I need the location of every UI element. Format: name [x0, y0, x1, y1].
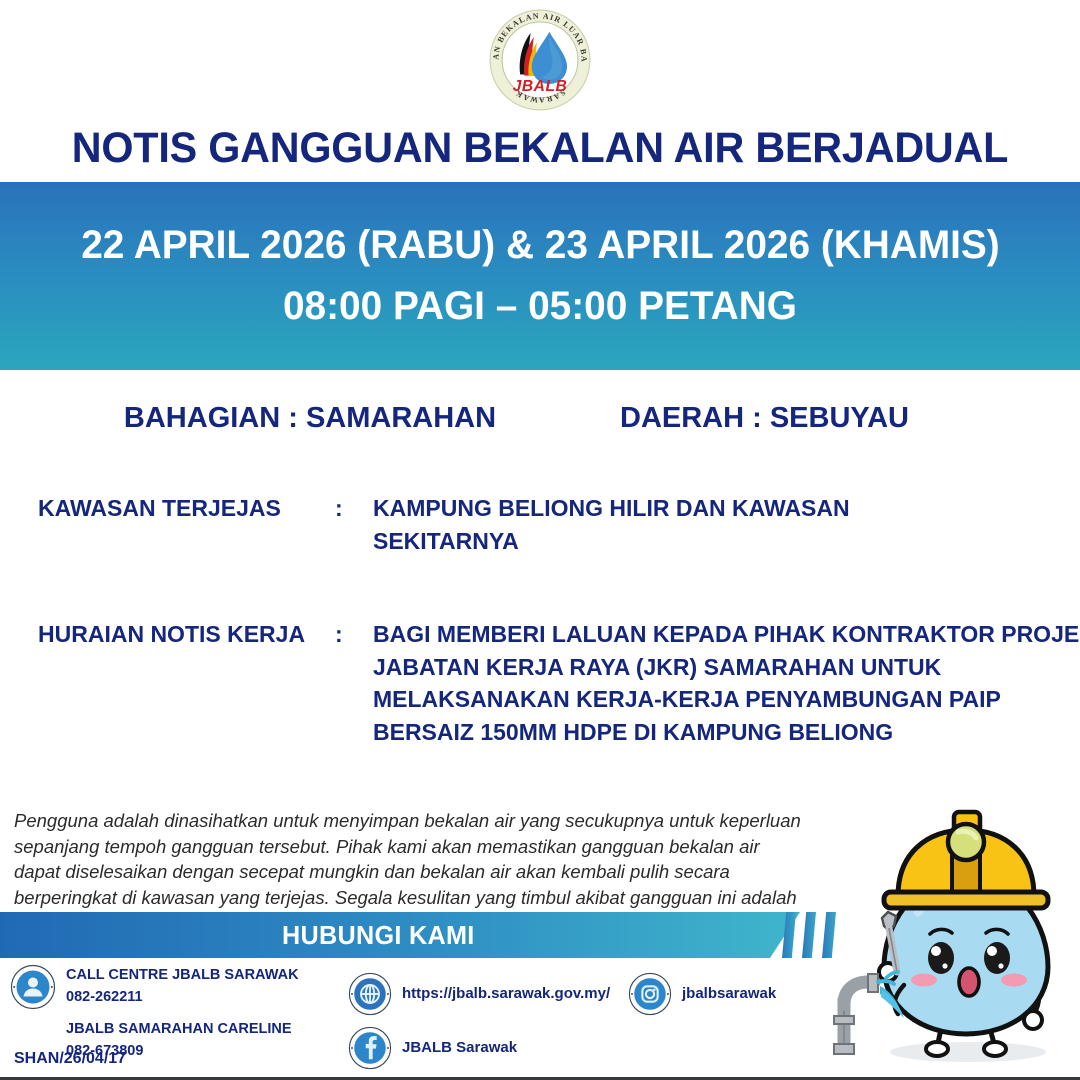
jbalb-logo-icon: JABATAN BEKALAN AIR LUAR BANDAR SARAWAK …	[488, 8, 592, 112]
affected-area-value: KAMPUNG BELIONG HILIR DAN KAWASAN SEKITA…	[373, 492, 1058, 557]
work-description-line: MELAKSANAKAN KERJA-KERJA PENYAMBUNGAN PA…	[373, 683, 1080, 716]
reference-code: SHAN/26/04/17	[14, 1050, 126, 1068]
work-description-value: BAGI MEMBERI LALUAN KEPADA PIHAK KONTRAK…	[373, 618, 1080, 749]
instagram-handle[interactable]: jbalbsarawak	[682, 982, 776, 1005]
daerah-label: DAERAH : SEBUYAU	[620, 402, 1080, 435]
water-disruption-notice-poster: JABATAN BEKALAN AIR LUAR BANDAR SARAWAK …	[0, 0, 1080, 1080]
facebook-handle[interactable]: JBALB Sarawak	[402, 1036, 517, 1059]
contact-banner-shape: HUBUNGI KAMI	[0, 912, 800, 958]
work-description-label: HURAIAN NOTIS KERJA	[38, 618, 335, 749]
disruption-dates: 22 APRIL 2026 (RABU) & 23 APRIL 2026 (KH…	[81, 223, 1000, 268]
disruption-time: 08:00 PAGI – 05:00 PETANG	[283, 284, 797, 329]
affected-area-block: KAWASAN TERJEJAS : KAMPUNG BELIONG HILIR…	[38, 492, 1058, 557]
instagram-block[interactable]: jbalbsarawak	[628, 972, 776, 1016]
work-description-line: BERSAIZ 150MM HDPE DI KAMPUNG BELIONG	[373, 716, 1080, 749]
affected-area-colon: :	[335, 492, 373, 557]
water-droplet-mascot-icon	[826, 800, 1076, 1075]
work-description-block: HURAIAN NOTIS KERJA : BAGI MEMBERI LALUA…	[38, 618, 1058, 749]
globe-icon	[348, 972, 392, 1016]
area-row: BAHAGIAN : SAMARAHAN DAERAH : SEBUYAU	[0, 402, 1080, 435]
instagram-icon	[628, 972, 672, 1016]
work-description-line: JABATAN KERJA RAYA (JKR) SAMARAHAN UNTUK	[373, 651, 1080, 684]
svg-text:JBALB: JBALB	[513, 78, 568, 95]
website-block[interactable]: https://jbalb.sarawak.gov.my/	[348, 972, 610, 1016]
decorative-slash-icon	[802, 912, 816, 958]
contact-heading: HUBUNGI KAMI	[282, 920, 475, 951]
work-description-line: BAGI MEMBERI LALUAN KEPADA PIHAK KONTRAK…	[373, 618, 1080, 651]
affected-area-label: KAWASAN TERJEJAS	[38, 492, 335, 557]
logo-container: JABATAN BEKALAN AIR LUAR BANDAR SARAWAK …	[0, 8, 1080, 112]
leaking-pipe-icon	[834, 972, 904, 1054]
call-centre-text: CALL CENTRE JBALB SARAWAK 082-262211 JBA…	[66, 964, 299, 1063]
call-centre-label: CALL CENTRE JBALB SARAWAK	[66, 964, 299, 986]
person-icon	[10, 964, 56, 1010]
date-banner: 22 APRIL 2026 (RABU) & 23 APRIL 2026 (KH…	[0, 182, 1080, 370]
careline-label: JBALB SAMARAHAN CARELINE	[66, 1018, 299, 1040]
bahagian-label: BAHAGIAN : SAMARAHAN	[0, 402, 620, 435]
facebook-block[interactable]: JBALB Sarawak	[348, 1026, 517, 1070]
work-description-colon: :	[335, 618, 373, 749]
facebook-icon	[348, 1026, 392, 1070]
affected-area-line: KAMPUNG BELIONG HILIR DAN KAWASAN	[373, 492, 1058, 525]
website-url[interactable]: https://jbalb.sarawak.gov.my/	[402, 982, 610, 1005]
page-title: NOTIS GANGGUAN BEKALAN AIR BERJADUAL	[22, 124, 1059, 173]
affected-area-line: SEKITARNYA	[373, 525, 1058, 558]
call-centre-block: CALL CENTRE JBALB SARAWAK 082-262211 JBA…	[10, 964, 299, 1063]
call-centre-number[interactable]: 082-262211	[66, 986, 299, 1008]
